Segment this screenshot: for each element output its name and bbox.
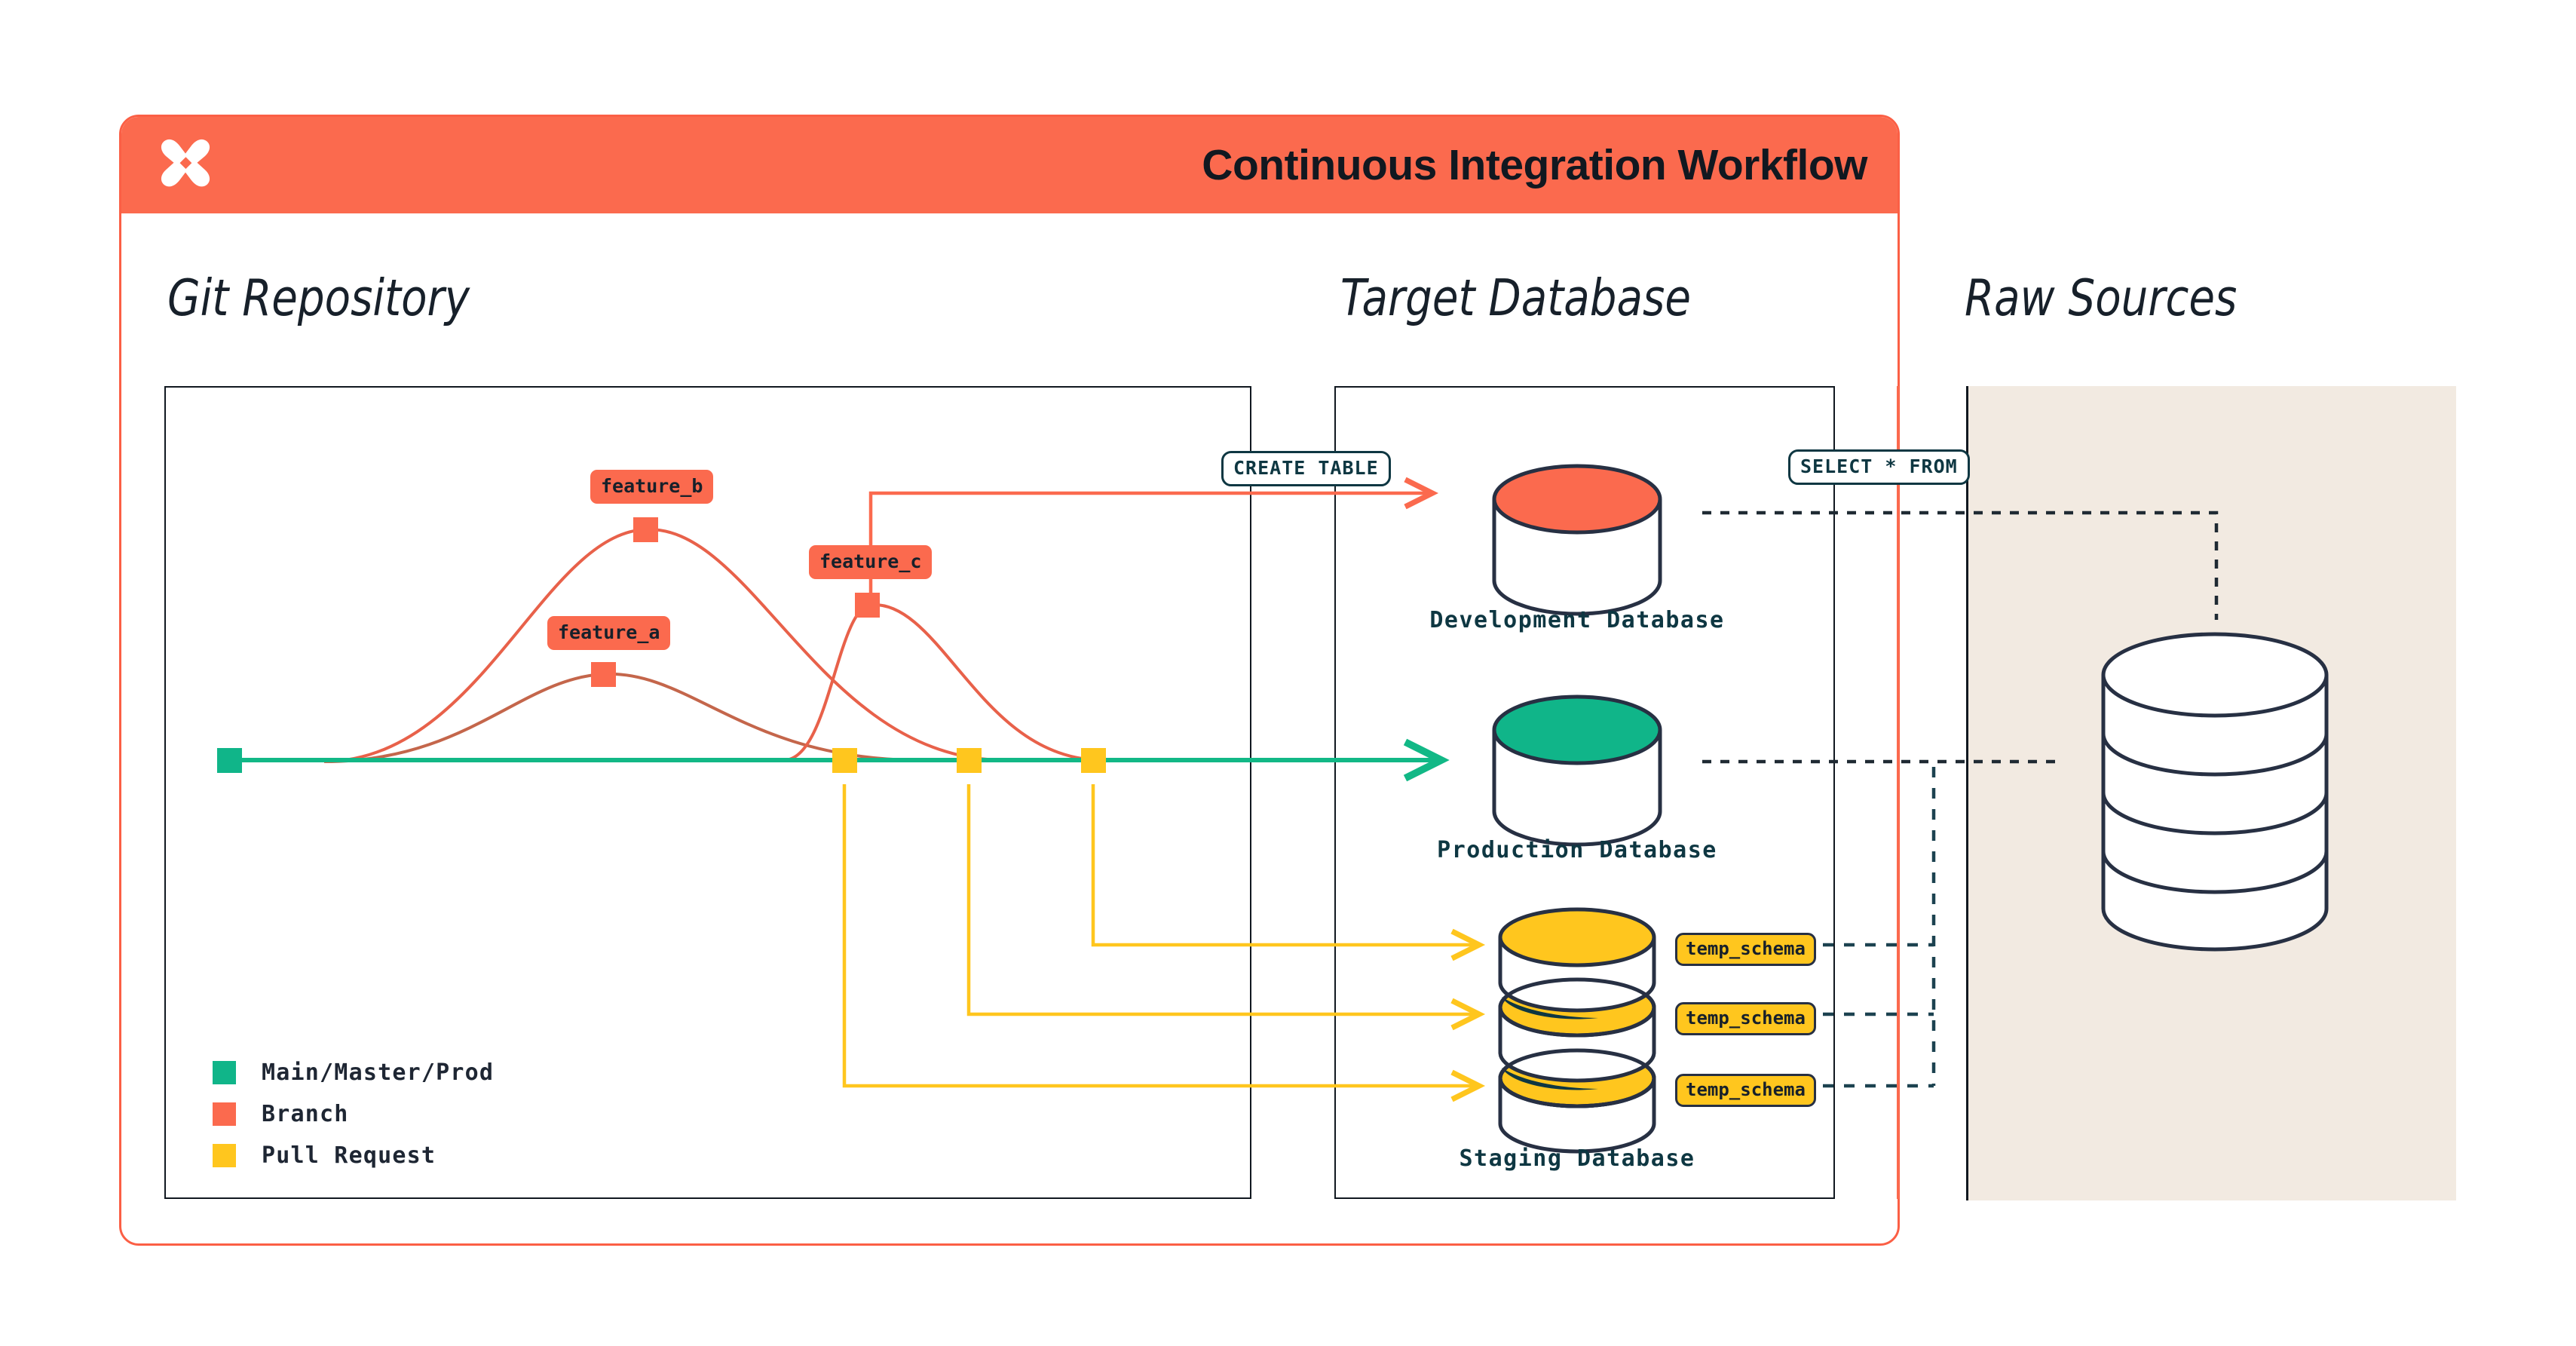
staging-database-cylinder-stack bbox=[1500, 909, 1654, 1151]
schema-badge-1[interactable]: temp_schema bbox=[1675, 933, 1816, 966]
commit-node-feature-b[interactable] bbox=[633, 517, 658, 542]
db-label-development: Development Database bbox=[1351, 607, 1803, 633]
schema-badge-3[interactable]: temp_schema bbox=[1675, 1074, 1816, 1107]
commit-node-feature-c[interactable] bbox=[855, 593, 880, 618]
legend-swatch-pr bbox=[213, 1144, 236, 1167]
production-database-cylinder bbox=[1494, 697, 1660, 845]
dotted-schema-bus bbox=[1802, 767, 1934, 1086]
legend-item-main: Main/Master/Prod bbox=[213, 1052, 494, 1093]
commit-node-feature-a[interactable] bbox=[591, 662, 616, 687]
branch-tag-feature-a[interactable]: feature_a bbox=[547, 616, 670, 650]
db-label-production: Production Database bbox=[1351, 837, 1803, 863]
legend-item-branch: Branch bbox=[213, 1093, 494, 1135]
branch-curve-feature-c bbox=[784, 605, 1101, 760]
branch-tag-feature-b[interactable]: feature_b bbox=[590, 470, 713, 504]
legend-label-main: Main/Master/Prod bbox=[262, 1059, 494, 1086]
sql-badge-select-from[interactable]: SELECT * FROM bbox=[1788, 449, 1970, 485]
development-database-cylinder bbox=[1494, 466, 1660, 614]
legend: Main/Master/Prod Branch Pull Request bbox=[213, 1052, 494, 1176]
arrow-branch-to-dev-db bbox=[871, 493, 1432, 596]
legend-swatch-branch bbox=[213, 1102, 236, 1126]
commit-node-pr-2[interactable] bbox=[957, 748, 982, 773]
commit-node-main[interactable] bbox=[217, 748, 242, 773]
arrow-pr-to-staging-2 bbox=[969, 784, 1479, 1014]
branch-curve-feature-a bbox=[324, 674, 912, 762]
legend-item-pr: Pull Request bbox=[213, 1135, 494, 1176]
arrow-pr-to-staging-3 bbox=[844, 784, 1479, 1086]
sql-badge-create-table[interactable]: CREATE TABLE bbox=[1221, 451, 1391, 486]
db-label-staging: Staging Database bbox=[1351, 1145, 1803, 1172]
commit-node-pr-1[interactable] bbox=[832, 748, 857, 773]
dotted-raw-to-dev-db bbox=[1702, 513, 2216, 620]
schema-badge-2[interactable]: temp_schema bbox=[1675, 1002, 1816, 1035]
commit-node-pr-3[interactable] bbox=[1081, 748, 1106, 773]
branch-tag-feature-c[interactable]: feature_c bbox=[809, 545, 932, 579]
raw-sources-cylinder bbox=[2103, 634, 2326, 949]
legend-swatch-main bbox=[213, 1061, 236, 1084]
legend-label-pr: Pull Request bbox=[262, 1142, 436, 1169]
arrow-pr-to-staging-1 bbox=[1093, 784, 1479, 945]
legend-label-branch: Branch bbox=[262, 1101, 349, 1127]
